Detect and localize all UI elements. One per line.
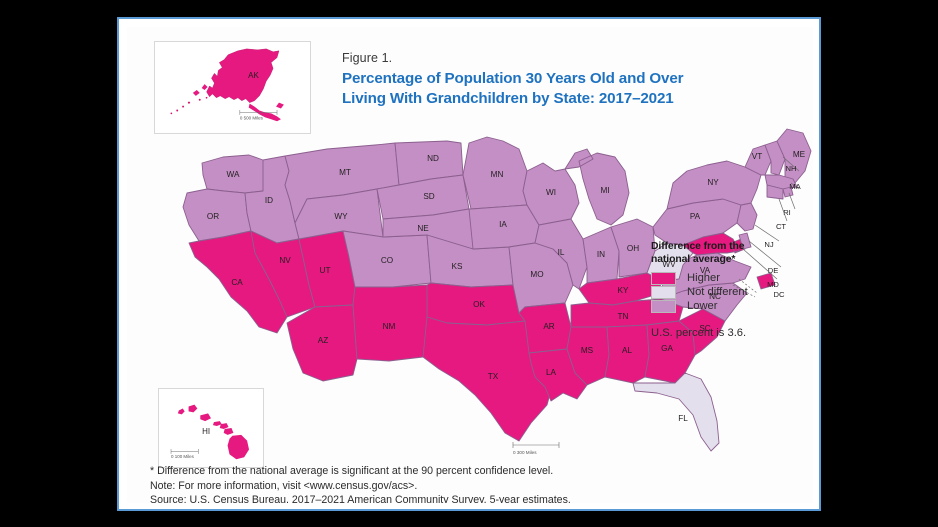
state-label-tx: TX xyxy=(488,372,499,381)
state-label-ar: AR xyxy=(543,322,554,331)
state-label-ne: NE xyxy=(417,224,429,233)
figure-number: Figure 1. xyxy=(342,51,392,65)
footnote-note: Note: For more information, visit <www.c… xyxy=(150,479,800,494)
callout-label-ma: MA xyxy=(789,182,801,191)
state-label-tn: TN xyxy=(618,312,629,321)
map-scalebar: 0 300 Miles xyxy=(513,442,559,455)
legend-swatch-not-different xyxy=(651,286,676,299)
legend-item-lower[interactable]: Lower xyxy=(651,299,801,313)
footnote-significance: * Difference from the national average i… xyxy=(150,464,800,479)
state-label-ok: OK xyxy=(473,300,485,309)
legend-title-line2: national average* xyxy=(651,254,735,265)
state-label-ut: UT xyxy=(320,266,331,275)
figure-title-line1: Percentage of Population 30 Years Old an… xyxy=(342,70,683,87)
legend-title-line1: Difference from the xyxy=(651,241,744,252)
page-title: Percentage of Population 30 Years Old an… xyxy=(342,69,782,109)
callout-label-nh: NH xyxy=(786,164,797,173)
state-label-mt: MT xyxy=(339,168,351,177)
legend-swatch-lower xyxy=(651,300,676,313)
legend-label-lower: Lower xyxy=(687,300,717,312)
state-label-ms: MS xyxy=(581,346,594,355)
state-label-nv: NV xyxy=(279,256,291,265)
callout-label-ct: CT xyxy=(776,222,786,231)
state-label-co: CO xyxy=(381,256,393,265)
legend-swatch-higher xyxy=(651,272,676,285)
footnote-source: Source: U.S. Census Bureau, 2017–2021 Am… xyxy=(150,493,800,503)
state-label-ny: NY xyxy=(707,178,719,187)
state-label-ia: IA xyxy=(499,220,507,229)
state-label-wa: WA xyxy=(227,170,240,179)
callout-label-ri: RI xyxy=(783,208,791,217)
state-label-wy: WY xyxy=(334,212,348,221)
state-label-az: AZ xyxy=(318,336,328,345)
legend-label-not-different: Not different xyxy=(687,286,748,298)
map-legend: Difference from the national average* Hi… xyxy=(651,240,801,339)
state-label-me: ME xyxy=(793,150,806,159)
state-label-il: IL xyxy=(558,248,565,257)
state-fl[interactable] xyxy=(633,373,719,451)
legend-label-higher: Higher xyxy=(687,272,720,284)
state-label-ak: AK xyxy=(248,71,259,80)
alaska-inset: AK 0 500 Miles xyxy=(154,41,311,134)
state-label-la: LA xyxy=(546,368,557,377)
legend-items: Higher Not different Lower xyxy=(651,271,801,313)
state-label-pa: PA xyxy=(690,212,701,221)
state-label-or: OR xyxy=(207,212,219,221)
figure-title-line2: Living With Grandchildren by State: 2017… xyxy=(342,90,674,107)
state-label-sd: SD xyxy=(423,192,434,201)
state-label-ky: KY xyxy=(618,286,629,295)
figure-footnotes: * Difference from the national average i… xyxy=(150,464,800,503)
state-label-ca: CA xyxy=(231,278,243,287)
state-label-wi: WI xyxy=(546,188,556,197)
alaska-map-svg: AK 0 500 Miles xyxy=(155,42,310,133)
legend-item-not-different[interactable]: Not different xyxy=(651,285,801,299)
state-label-mo: MO xyxy=(530,270,543,279)
state-label-mn: MN xyxy=(491,170,504,179)
state-label-ks: KS xyxy=(452,262,463,271)
legend-national-note: U.S. percent is 3.6. xyxy=(651,327,801,339)
state-label-in: IN xyxy=(597,250,605,259)
alaska-scale-text: 0 500 Miles xyxy=(240,115,264,120)
state-label-nm: NM xyxy=(383,322,396,331)
state-label-ga: GA xyxy=(661,344,673,353)
legend-item-higher[interactable]: Higher xyxy=(651,271,801,285)
state-label-vt: VT xyxy=(752,152,762,161)
state-label-nd: ND xyxy=(427,154,439,163)
screen: Figure 1. Percentage of Population 30 Ye… xyxy=(0,0,938,527)
map-scale-text: 0 300 Miles xyxy=(513,450,537,455)
figure-slide: Figure 1. Percentage of Population 30 Ye… xyxy=(117,17,821,511)
state-label-mi: MI xyxy=(600,186,609,195)
figure-canvas: Figure 1. Percentage of Population 30 Ye… xyxy=(127,27,813,503)
state-label-fl: FL xyxy=(678,414,688,423)
state-label-al: AL xyxy=(622,346,632,355)
legend-title: Difference from the national average* xyxy=(651,240,801,266)
state-label-oh: OH xyxy=(627,244,639,253)
state-label-id: ID xyxy=(265,196,273,205)
alaska-shape xyxy=(170,49,283,121)
